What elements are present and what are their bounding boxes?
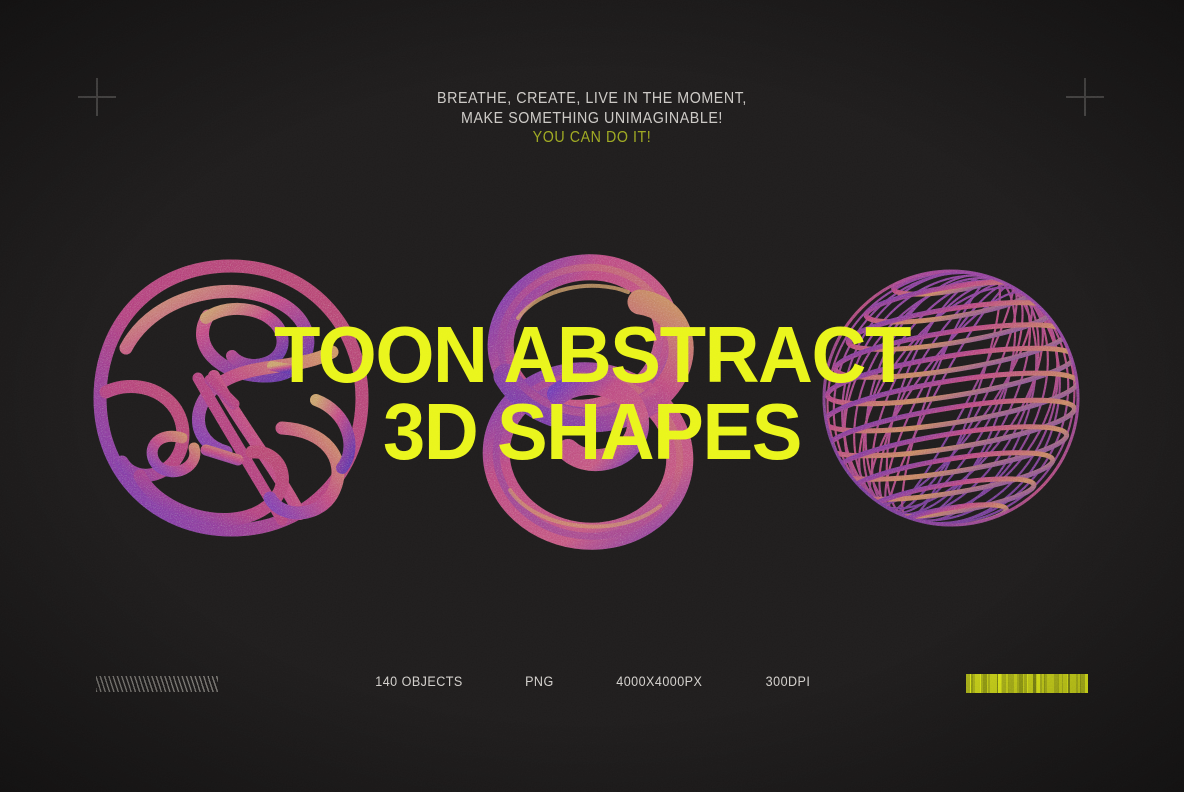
poster-canvas: BREATHE, CREATE, LIVE IN THE MOMENT, MAK… (0, 0, 1184, 792)
tagline-line-2: MAKE SOMETHING UNIMAGINABLE! (47, 109, 1136, 129)
tagline-block: BREATHE, CREATE, LIVE IN THE MOMENT, MAK… (0, 89, 1184, 148)
tagline-line-3: YOU CAN DO IT! (47, 128, 1136, 148)
meta-dimensions: 4000X4000PX (616, 674, 702, 689)
meta-format: PNG (525, 674, 554, 689)
meta-dpi: 300DPI (765, 674, 810, 689)
artwork-torus-knot (452, 244, 722, 554)
tagline-line-1: BREATHE, CREATE, LIVE IN THE MOMENT, (47, 89, 1136, 109)
artwork-noodle-ball (86, 252, 376, 542)
artwork-coil-sphere (820, 262, 1082, 534)
meta-objects: 140 OBJECTS (376, 674, 463, 689)
meta-row: 140 OBJECTS PNG 4000X4000PX 300DPI (0, 674, 1184, 689)
